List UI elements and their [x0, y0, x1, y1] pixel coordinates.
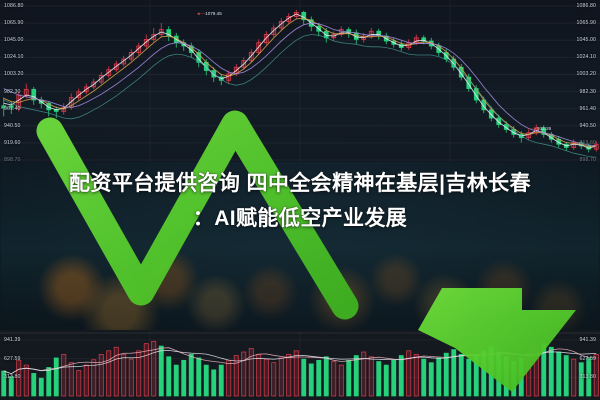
arrow-head	[418, 288, 576, 392]
headline-line-1: 配资平台提供咨询 四中全会精神在基层|吉林长春	[0, 168, 600, 199]
news-cover-image: 1086.801065.901045.001024.101003.20982.3…	[0, 0, 600, 400]
headline-line-2: ：AI赋能低空产业发展	[0, 203, 600, 234]
headline: 配资平台提供咨询 四中全会精神在基层|吉林长春 ：AI赋能低空产业发展	[0, 168, 600, 234]
